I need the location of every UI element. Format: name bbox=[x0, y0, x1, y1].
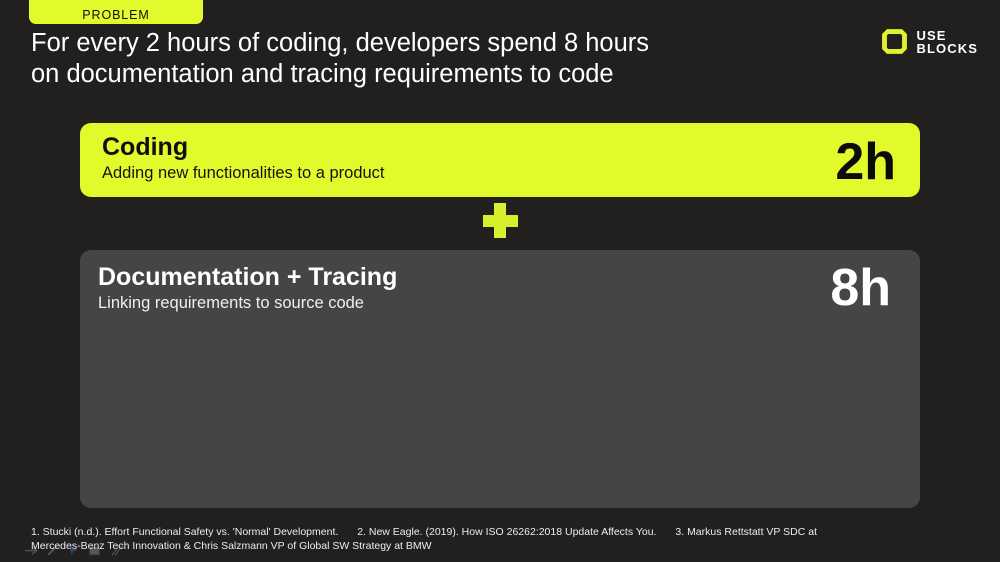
card-documentation-title: Documentation + Tracing bbox=[98, 262, 920, 292]
section-badge: PROBLEM bbox=[29, 0, 203, 24]
section-badge-label: PROBLEM bbox=[82, 9, 149, 22]
brand-logo-line-2: BLOCKS bbox=[917, 42, 979, 55]
footnote-row-2: Mercedes-Benz Tech Innovation & Chris Sa… bbox=[31, 539, 971, 553]
card-coding-title: Coding bbox=[102, 132, 920, 162]
footnote-3: 3. Markus Rettstatt VP SDC at bbox=[675, 526, 817, 538]
headline-line-2: on documentation and tracing requirement… bbox=[31, 59, 811, 90]
brand-logo-line-1: USE bbox=[917, 29, 979, 42]
card-documentation-hours: 8h bbox=[830, 262, 891, 314]
operator-row bbox=[0, 203, 1000, 238]
card-documentation-tracing: Documentation + Tracing Linking requirem… bbox=[80, 250, 920, 508]
footnote-2: 2. New Eagle. (2019). How ISO 26262:2018… bbox=[357, 526, 656, 538]
slash-icon[interactable] bbox=[108, 543, 123, 558]
brand-logo: USE BLOCKS bbox=[881, 28, 979, 55]
brand-logo-text: USE BLOCKS bbox=[917, 29, 979, 55]
card-coding-subtitle: Adding new functionalities to a product bbox=[102, 162, 920, 184]
plus-icon bbox=[483, 203, 518, 238]
card-coding-hours: 2h bbox=[835, 136, 896, 188]
cursor-icon[interactable] bbox=[66, 543, 81, 558]
page-title: For every 2 hours of coding, developers … bbox=[31, 28, 811, 90]
footnote-1: 1. Stucki (n.d.). Effort Functional Safe… bbox=[31, 526, 338, 538]
headline-line-1: For every 2 hours of coding, developers … bbox=[31, 28, 811, 59]
card-documentation-subtitle: Linking requirements to source code bbox=[98, 292, 920, 314]
overlay-toolbar[interactable] bbox=[24, 543, 123, 558]
use-blocks-octagon-icon bbox=[881, 28, 908, 55]
footnotes: 1. Stucki (n.d.). Effort Functional Safe… bbox=[31, 525, 971, 553]
square-icon[interactable] bbox=[87, 543, 102, 558]
arrow-icon[interactable] bbox=[24, 543, 39, 558]
card-coding: Coding Adding new functionalities to a p… bbox=[80, 123, 920, 197]
pencil-icon[interactable] bbox=[45, 543, 60, 558]
footnote-row-1: 1. Stucki (n.d.). Effort Functional Safe… bbox=[31, 525, 971, 539]
slide-canvas: PROBLEM For every 2 hours of coding, dev… bbox=[0, 0, 1000, 562]
